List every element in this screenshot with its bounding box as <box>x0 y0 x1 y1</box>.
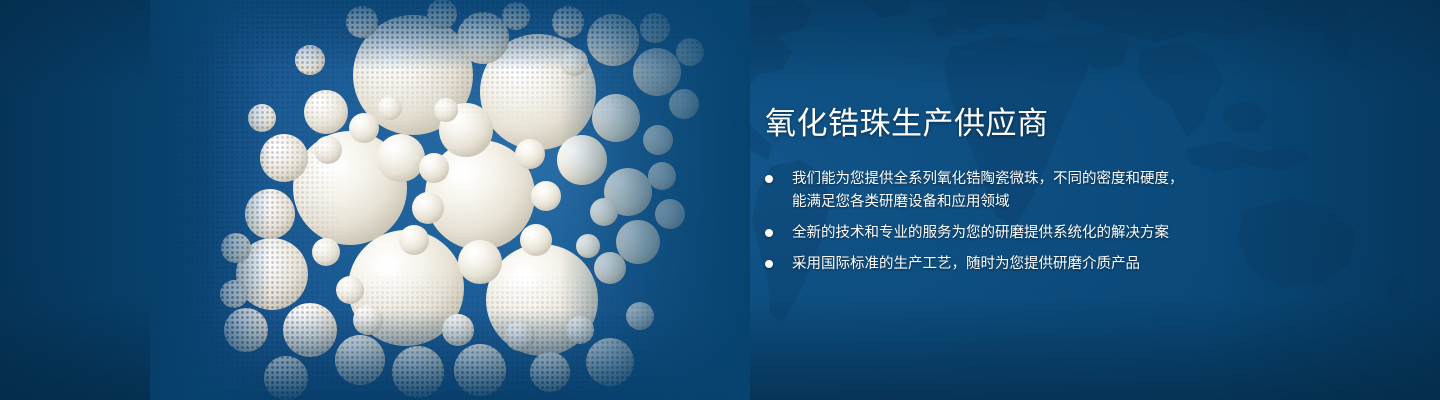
benefit-list: 我们能为您提供全系列氧化锆陶瓷微珠，不同的密度和硬度， 能满足您各类研磨设备和应… <box>765 168 1385 275</box>
bullet-line: 全新的技术和专业的服务为您的研磨提供系统化的解决方案 <box>792 222 1385 244</box>
list-item: 我们能为您提供全系列氧化锆陶瓷微珠，不同的密度和硬度， 能满足您各类研磨设备和应… <box>765 168 1385 213</box>
bullet-line: 采用国际标准的生产工艺，随时为您提供研磨介质产品 <box>792 253 1385 275</box>
bullet-line: 能满足您各类研磨设备和应用领域 <box>792 191 1385 213</box>
list-item: 全新的技术和专业的服务为您的研磨提供系统化的解决方案 <box>765 222 1385 244</box>
bullet-dot-icon <box>765 260 773 268</box>
hero-banner: 氧化锆珠生产供应商 我们能为您提供全系列氧化锆陶瓷微珠，不同的密度和硬度， 能满… <box>0 0 1440 400</box>
banner-copy: 氧化锆珠生产供应商 我们能为您提供全系列氧化锆陶瓷微珠，不同的密度和硬度， 能满… <box>765 104 1385 275</box>
list-item: 采用国际标准的生产工艺，随时为您提供研磨介质产品 <box>765 253 1385 275</box>
bullet-dot-icon <box>765 229 773 237</box>
bullet-line: 我们能为您提供全系列氧化锆陶瓷微珠，不同的密度和硬度， <box>792 168 1385 190</box>
bullet-dot-icon <box>765 175 773 183</box>
banner-headline: 氧化锆珠生产供应商 <box>765 104 1385 144</box>
